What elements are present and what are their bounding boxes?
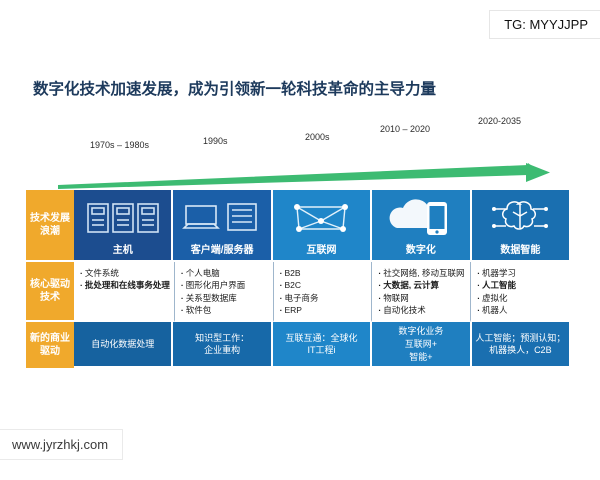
era-label-5: 2020-2035 bbox=[478, 116, 521, 126]
driver-cell-2: 知识型工作： 企业重构 bbox=[173, 322, 272, 368]
wave-caption-1: 主机 bbox=[74, 241, 171, 256]
arrow-icon bbox=[58, 163, 568, 189]
core-bullet: 物联网 bbox=[378, 292, 466, 304]
watermark-url: www.jyrzhkj.com bbox=[0, 429, 123, 460]
wave-cell-5: 数据智能 bbox=[472, 190, 571, 262]
tech-evolution-grid: 技术发展浪潮 主机 bbox=[26, 190, 571, 368]
core-bullet: B2C bbox=[280, 279, 368, 291]
wave-caption-3: 互联网 bbox=[273, 241, 370, 256]
ai-brain-chip-icon bbox=[472, 196, 569, 240]
core-bullet: 自动化技术 bbox=[378, 304, 466, 316]
core-bullet: 软件包 bbox=[181, 304, 269, 316]
network-icon bbox=[273, 196, 370, 240]
wave-cell-1: 主机 bbox=[74, 190, 173, 262]
core-cell-5: 机器学习 人工智能 虚拟化 机器人 bbox=[471, 262, 571, 322]
core-bullet: 关系型数据库 bbox=[181, 292, 269, 304]
wave-cell-2: 客户端/服务器 bbox=[173, 190, 272, 262]
era-label-4: 2010 – 2020 bbox=[380, 124, 430, 134]
row-tech-wave: 技术发展浪潮 主机 bbox=[26, 190, 571, 262]
core-cell-2: 个人电脑 图形化用户界面 关系型数据库 软件包 bbox=[175, 262, 274, 322]
core-bullet: 机器人 bbox=[477, 304, 565, 316]
core-bullet: 电子商务 bbox=[280, 292, 368, 304]
driver-cell-4: 数字化业务 互联网+ 智能+ bbox=[372, 322, 471, 368]
core-cell-1: 文件系统 批处理和在线事务处理 bbox=[74, 262, 175, 322]
tg-badge: TG: MYYJJPP bbox=[489, 10, 600, 39]
era-label-2: 1990s bbox=[203, 136, 228, 146]
wave-caption-2: 客户端/服务器 bbox=[173, 241, 270, 256]
row-label-core: 核心驱动技术 bbox=[26, 262, 74, 322]
core-bullet: B2B bbox=[280, 267, 368, 279]
core-bullet: 大数据, 云计算 bbox=[378, 279, 466, 291]
core-bullet: ERP bbox=[280, 304, 368, 316]
core-bullet: 虚拟化 bbox=[477, 292, 565, 304]
core-bullet: 人工智能 bbox=[477, 279, 565, 291]
core-bullet: 社交网络, 移动互联网 bbox=[378, 267, 466, 279]
core-bullet: 个人电脑 bbox=[181, 267, 269, 279]
growth-arrow bbox=[58, 163, 568, 189]
row-core-tech: 核心驱动技术 文件系统 批处理和在线事务处理 个人电脑 图形化用户界面 关系型数… bbox=[26, 262, 571, 322]
wave-cell-4: 数字化 bbox=[372, 190, 471, 262]
era-labels: 1970s – 1980s 1990s 2000s 2010 – 2020 20… bbox=[60, 132, 565, 158]
wave-caption-5: 数据智能 bbox=[472, 241, 569, 256]
row-label-wave: 技术发展浪潮 bbox=[26, 190, 74, 262]
row-label-business: 新的商业驱动 bbox=[26, 322, 74, 368]
core-cell-4: 社交网络, 移动互联网 大数据, 云计算 物联网 自动化技术 bbox=[372, 262, 471, 322]
era-label-1: 1970s – 1980s bbox=[90, 140, 149, 150]
cloud-mobile-icon bbox=[372, 196, 469, 240]
mainframe-icon bbox=[74, 196, 171, 240]
core-bullet: 图形化用户界面 bbox=[181, 279, 269, 291]
driver-cell-3: 互联互通：全球化 IT工程i bbox=[273, 322, 372, 368]
driver-cell-1: 自动化数据处理 bbox=[74, 322, 173, 368]
core-bullet: 机器学习 bbox=[477, 267, 565, 279]
client-server-icon bbox=[173, 196, 270, 240]
driver-cell-5: 人工智能；预测认知； 机器换人，C2B bbox=[472, 322, 571, 368]
core-cell-3: B2B B2C 电子商务 ERP bbox=[274, 262, 373, 322]
wave-caption-4: 数字化 bbox=[372, 241, 469, 256]
core-bullet: 批处理和在线事务处理 bbox=[80, 279, 170, 291]
row-business-driver: 新的商业驱动 自动化数据处理 知识型工作： 企业重构 互联互通：全球化 IT工程… bbox=[26, 322, 571, 368]
wave-cell-3: 互联网 bbox=[273, 190, 372, 262]
page-title: 数字化技术加速发展，成为引领新一轮科技革命的主导力量 bbox=[33, 78, 503, 101]
era-label-3: 2000s bbox=[305, 132, 330, 142]
core-bullet: 文件系统 bbox=[80, 267, 170, 279]
